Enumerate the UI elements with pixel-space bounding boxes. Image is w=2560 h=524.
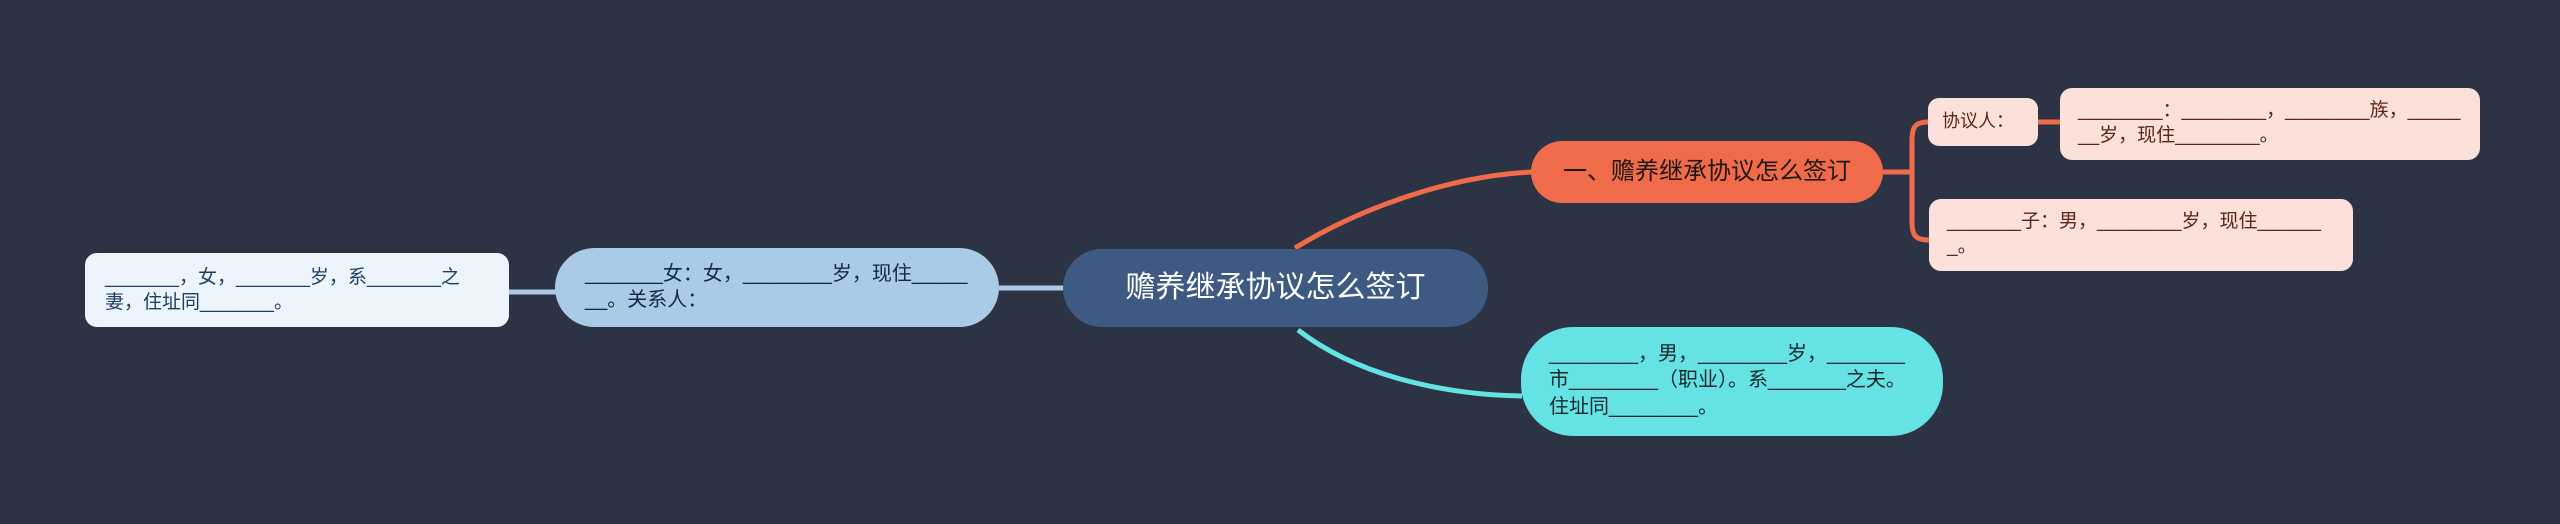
node-left-detail-label: _______，女，_______岁，系_______之妻，住址同_______… bbox=[105, 265, 491, 315]
node-left-branch[interactable]: _______女：女，________岁，现住_______。关系人： bbox=[555, 248, 999, 327]
node-xieyiren[interactable]: 协议人： bbox=[1928, 98, 2038, 146]
node-xieyiren-label: 协议人： bbox=[1942, 110, 2024, 134]
edge-bracket-down bbox=[1912, 172, 1929, 240]
node-branch-cyan[interactable]: ________，男，________岁，_______市________（职业… bbox=[1521, 327, 1943, 436]
node-left-detail[interactable]: _______，女，_______岁，系_______之妻，住址同_______… bbox=[85, 253, 509, 327]
node-branch-cyan-label: ________，男，________岁，_______市________（职业… bbox=[1549, 341, 1919, 420]
edge-root-to-cyan bbox=[1298, 330, 1522, 396]
edge-bracket-up bbox=[1912, 122, 1929, 172]
edge-root-to-orange bbox=[1295, 172, 1532, 248]
node-root[interactable]: 赡养继承协议怎么签订 bbox=[1063, 249, 1488, 327]
node-branch-orange[interactable]: 一、赡养继承协议怎么签订 bbox=[1531, 141, 1883, 203]
node-pink-detail-2-label: _______子：男，________岁，现住_______。 bbox=[1947, 209, 2337, 259]
node-left-branch-label: _______女：女，________岁，现住_______。关系人： bbox=[585, 261, 973, 314]
node-branch-orange-label: 一、赡养继承协议怎么签订 bbox=[1557, 156, 1857, 188]
node-pink-detail-1[interactable]: ________：________，________族，_______岁，现住_… bbox=[2060, 88, 2480, 160]
node-pink-detail-1-label: ________：________，________族，_______岁，现住_… bbox=[2078, 98, 2464, 148]
mindmap-canvas: _______，女，_______岁，系_______之妻，住址同_______… bbox=[0, 0, 2560, 524]
node-pink-detail-2[interactable]: _______子：男，________岁，现住_______。 bbox=[1929, 199, 2353, 271]
node-root-label: 赡养继承协议怎么签订 bbox=[1093, 268, 1458, 308]
